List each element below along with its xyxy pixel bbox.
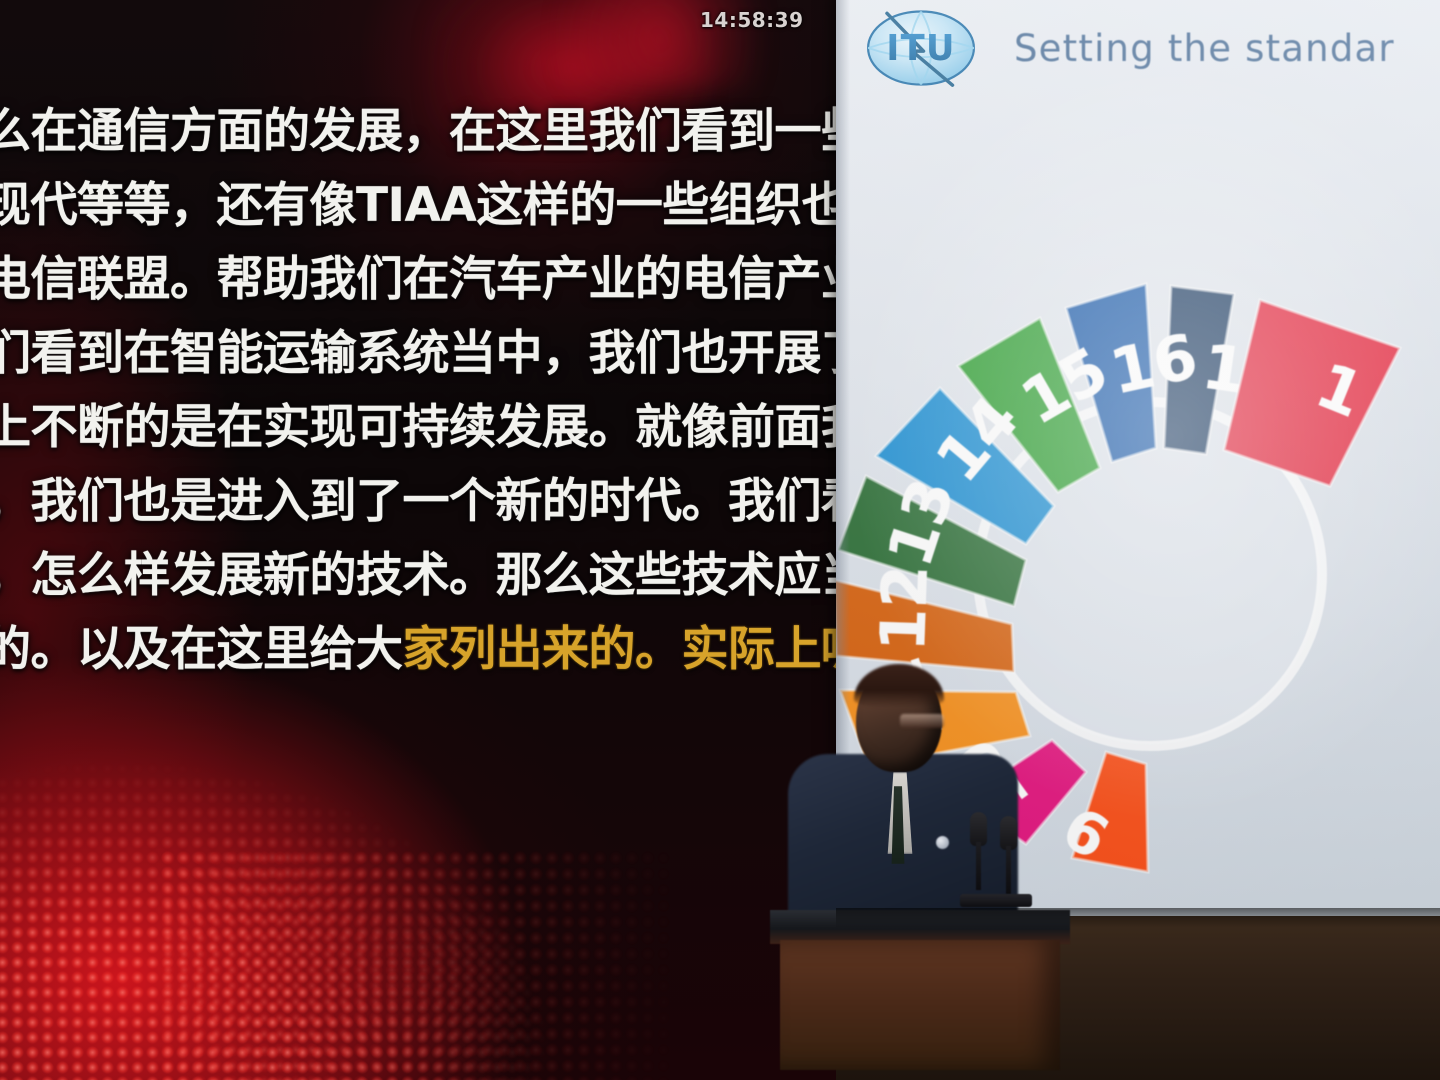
subtitle-text-highlight: 家列出来的。实际上呢 xyxy=(403,622,868,677)
sdg-segment-1: 1 xyxy=(1224,300,1400,486)
subtitle-line: 电信联盟。帮助我们在汽车产业的电信产业的发 xyxy=(0,256,774,303)
subtitle-text: 电信联盟。帮助我们在汽车产业的电信产业的发 xyxy=(0,252,961,307)
subtitle-line: 么在通信方面的发展，在这里我们看到一些汽车的 xyxy=(0,108,774,155)
subtitle-line: 现代等等，还有像TIAA这样的一些组织也都是加 xyxy=(0,182,774,229)
microphone-base xyxy=(960,894,1032,907)
subtitle-line: ，怎么样发展新的技术。那么这些技术应当是对于 xyxy=(0,552,774,599)
itu-globe-logo-icon: ITU xyxy=(858,2,984,94)
microphone-icon xyxy=(1000,816,1017,850)
microphone-icon xyxy=(970,812,987,846)
led-panel-dots-secondary xyxy=(160,850,680,1080)
video-frame: 14:58:39 么在通信方面的发展，在这里我们看到一些汽车的 现代等等，还有像… xyxy=(0,0,1440,1080)
itu-tagline: Setting the standar xyxy=(1014,27,1395,70)
subtitle-text: 的。以及在这里给大 xyxy=(0,622,403,677)
subtitle-line: 上不断的是在实现可持续发展。就像前面我们的省 xyxy=(0,404,774,451)
subtitle-line: ，我们也是进入到了一个新的时代。我们看到了一 xyxy=(0,478,774,525)
speaker-glasses xyxy=(900,714,944,728)
podium-body xyxy=(780,940,1060,1070)
itu-brand-header: ITU Setting the standar xyxy=(858,2,1395,94)
stage-floor-shadow xyxy=(836,908,1440,928)
speaker-hair xyxy=(854,664,944,708)
subtitle-block: 么在通信方面的发展，在这里我们看到一些汽车的 现代等等，还有像TIAA这样的一些… xyxy=(0,108,774,700)
svg-text:ITU: ITU xyxy=(886,28,956,69)
sdg-segment-12-label: 12 xyxy=(866,564,942,653)
speaker-lapel-pin xyxy=(936,836,949,849)
subtitle-line-active: 的。以及在这里给大家列出来的。实际上呢 xyxy=(0,626,774,673)
timestamp-overlay: 14:58:39 xyxy=(700,8,804,32)
subtitle-line: 们看到在智能运输系统当中，我们也开展了许多的 xyxy=(0,330,774,377)
